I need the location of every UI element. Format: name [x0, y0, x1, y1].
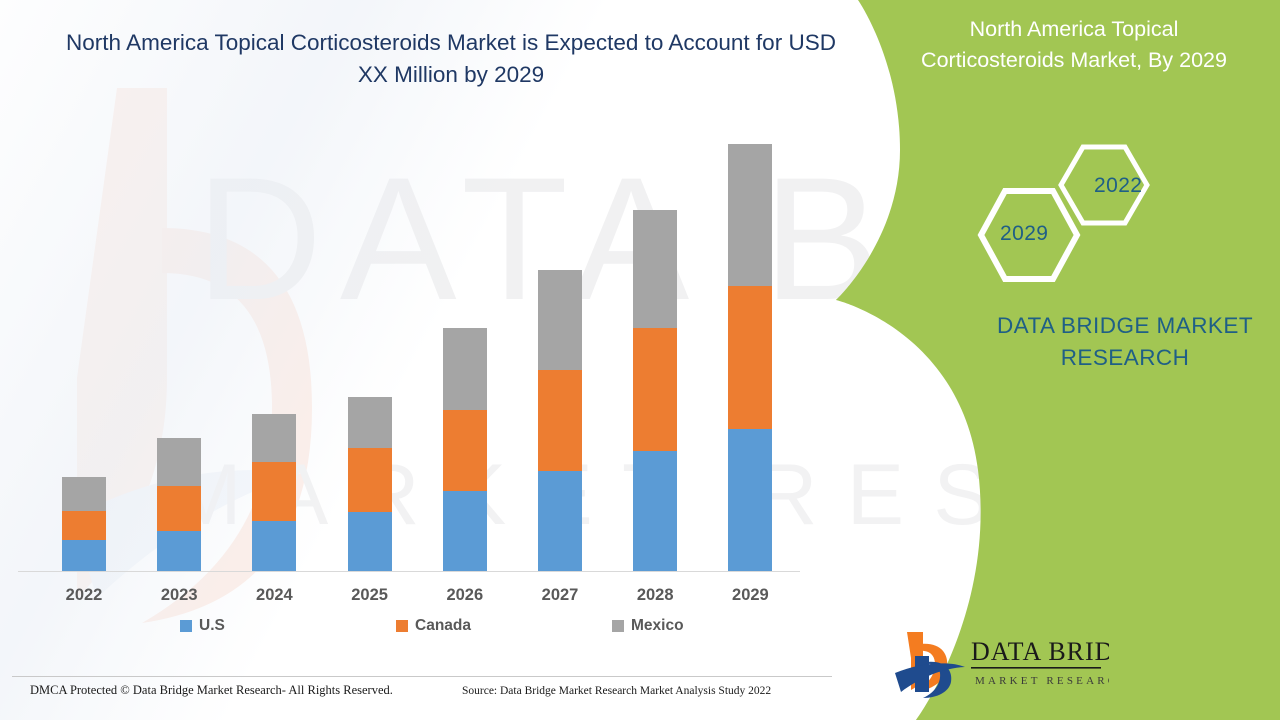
legend-swatch-mexico — [612, 620, 624, 632]
bar-segment-us-2027[interactable] — [538, 471, 582, 571]
bar-segment-mexico-2026[interactable] — [443, 328, 487, 410]
svg-text:DATA BRIDGE: DATA BRIDGE — [971, 637, 1109, 666]
x-axis-line — [18, 571, 800, 572]
legend-item-us[interactable]: U.S — [180, 617, 225, 635]
bar-segment-us-2025[interactable] — [348, 512, 392, 571]
bar-segment-us-2024[interactable] — [252, 521, 296, 571]
panel-title-line-2: Corticosteroids Market, By 2029 — [880, 45, 1268, 76]
chart-area: North America Topical Corticosteroids Ma… — [0, 0, 840, 620]
panel-brand-name: DATA BRIDGE MARKET RESEARCH — [960, 310, 1280, 374]
page-title-text: North America Topical Corticosteroids Ma… — [66, 30, 836, 87]
legend-swatch-us — [180, 620, 192, 632]
hexagon-label-2022: 2022 — [1094, 174, 1142, 198]
bar-segment-mexico-2022[interactable] — [62, 477, 106, 510]
bar-segment-canada-2023[interactable] — [157, 486, 201, 531]
data-bridge-logo-icon: DATA BRIDGE MARKET RESEARCH — [893, 628, 1109, 702]
legend-label-mexico: Mexico — [631, 617, 684, 635]
footer-copyright: DMCA Protected © Data Bridge Market Rese… — [30, 683, 393, 698]
x-axis-label-2024: 2024 — [239, 586, 309, 605]
x-axis-label-2023: 2023 — [144, 586, 214, 605]
x-axis-label-2029: 2029 — [715, 586, 785, 605]
bar-segment-canada-2025[interactable] — [348, 448, 392, 512]
bar-segment-mexico-2025[interactable] — [348, 397, 392, 448]
bar-segment-mexico-2023[interactable] — [157, 438, 201, 485]
bar-segment-canada-2028[interactable] — [633, 328, 677, 451]
x-axis-label-2022: 2022 — [49, 586, 119, 605]
bar-group-2022[interactable] — [62, 477, 106, 571]
footer-divider — [12, 676, 832, 677]
hexagon-label-2029: 2029 — [1000, 222, 1048, 246]
bar-series-container — [18, 120, 818, 571]
footer-source: Source: Data Bridge Market Research Mark… — [462, 685, 771, 697]
svg-text:MARKET RESEARCH: MARKET RESEARCH — [975, 675, 1109, 687]
bar-group-2026[interactable] — [443, 328, 487, 571]
bar-segment-us-2023[interactable] — [157, 531, 201, 571]
page-title: North America Topical Corticosteroids Ma… — [56, 27, 846, 91]
legend-item-canada[interactable]: Canada — [396, 617, 471, 635]
x-axis-label-2025: 2025 — [335, 586, 405, 605]
bar-segment-mexico-2027[interactable] — [538, 270, 582, 371]
bar-group-2025[interactable] — [348, 397, 392, 571]
bar-segment-canada-2024[interactable] — [252, 462, 296, 521]
bar-segment-us-2026[interactable] — [443, 491, 487, 571]
bar-segment-mexico-2028[interactable] — [633, 210, 677, 327]
panel-title: North America Topical Corticosteroids Ma… — [880, 14, 1268, 76]
x-axis-label-2026: 2026 — [430, 586, 500, 605]
infographic-page: DATA BRIDGE MARKET RESEARCH North Americ… — [0, 0, 1280, 720]
bar-segment-us-2028[interactable] — [633, 451, 677, 571]
bar-segment-canada-2026[interactable] — [443, 410, 487, 492]
bar-segment-us-2029[interactable] — [728, 429, 772, 571]
bar-segment-canada-2027[interactable] — [538, 370, 582, 471]
bar-group-2028[interactable] — [633, 210, 677, 571]
bar-segment-mexico-2029[interactable] — [728, 144, 772, 286]
legend-item-mexico[interactable]: Mexico — [612, 617, 684, 635]
panel-title-line-1: North America Topical — [880, 14, 1268, 45]
bar-group-2024[interactable] — [252, 414, 296, 571]
legend-label-us: U.S — [199, 617, 225, 635]
panel-brand-line-1: DATA BRIDGE MARKET — [960, 310, 1280, 342]
bar-group-2027[interactable] — [538, 270, 582, 571]
bar-segment-canada-2029[interactable] — [728, 286, 772, 428]
x-axis-label-2028: 2028 — [620, 586, 690, 605]
bar-segment-canada-2022[interactable] — [62, 511, 106, 541]
bar-group-2023[interactable] — [157, 438, 201, 571]
x-axis-label-2027: 2027 — [525, 586, 595, 605]
x-axis-labels: 20222023202420252026202720282029 — [18, 586, 818, 612]
hexagon-outlines-icon — [975, 143, 1175, 283]
chart-legend: U.S Canada Mexico — [180, 617, 720, 643]
legend-swatch-canada — [396, 620, 408, 632]
bar-group-2029[interactable] — [728, 144, 772, 571]
panel-brand-line-2: RESEARCH — [960, 342, 1280, 374]
bar-segment-us-2022[interactable] — [62, 540, 106, 571]
data-bridge-logo: DATA BRIDGE MARKET RESEARCH — [893, 628, 1109, 702]
bar-segment-mexico-2024[interactable] — [252, 414, 296, 461]
hexagon-pair: 2029 2022 — [975, 143, 1175, 283]
legend-label-canada: Canada — [415, 617, 471, 635]
